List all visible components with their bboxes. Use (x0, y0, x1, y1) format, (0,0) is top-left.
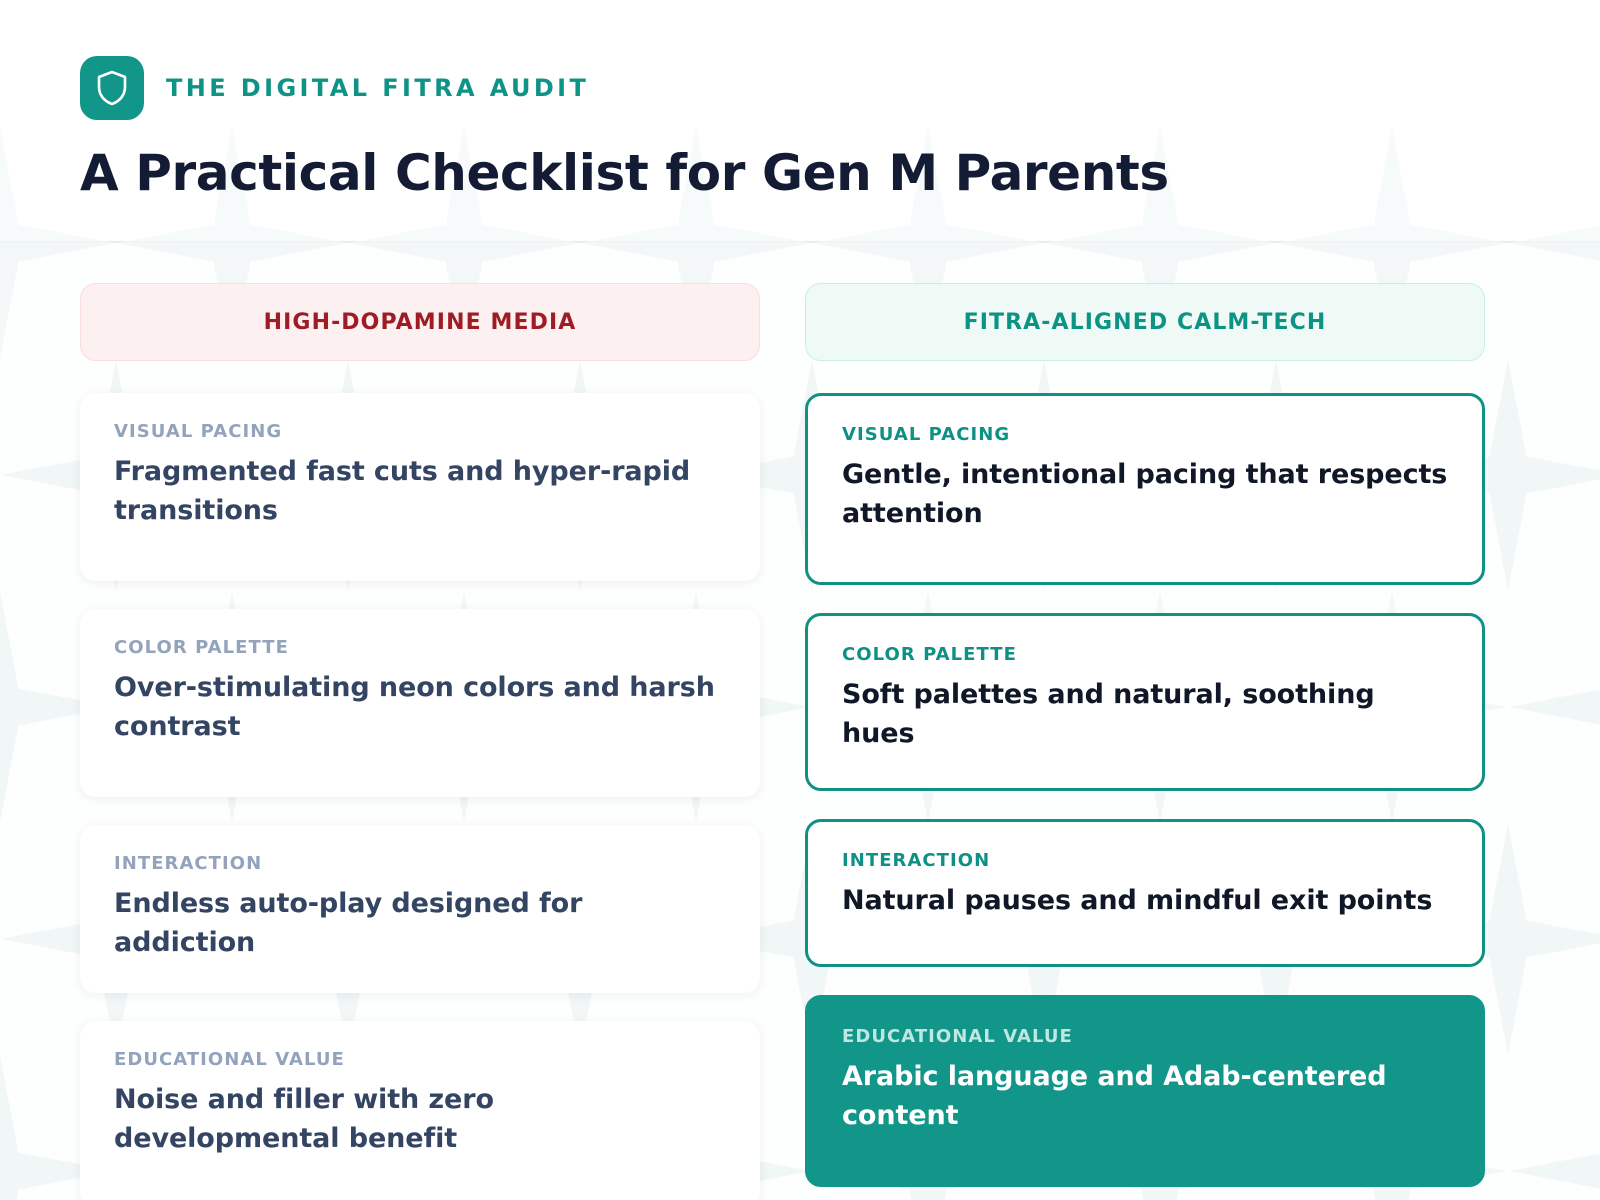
logo-badge (80, 56, 144, 120)
card-fitra-educational-value[interactable]: EDUCATIONAL VALUE Arabic language and Ad… (805, 995, 1485, 1187)
column-header-fitra-aligned: FITRA-ALIGNED CALM-TECH (805, 283, 1485, 361)
card-text: Endless auto-play designed for addiction (114, 884, 726, 963)
page-title: A Practical Checklist for Gen M Parents (80, 146, 1600, 200)
card-label: COLOR PALETTE (842, 644, 1448, 665)
card-text: Arabic language and Adab-centered conten… (842, 1057, 1448, 1136)
column-fitra-aligned: FITRA-ALIGNED CALM-TECH VISUAL PACING Ge… (805, 283, 1485, 1200)
column-high-dopamine: HIGH-DOPAMINE MEDIA VISUAL PACING Fragme… (80, 283, 760, 1200)
card-text: Over-stimulating neon colors and harsh c… (114, 668, 726, 747)
card-text: Soft palettes and natural, soothing hues (842, 675, 1448, 754)
card-text: Natural pauses and mindful exit points (842, 881, 1448, 920)
card-label: VISUAL PACING (114, 421, 726, 442)
comparison-board: HIGH-DOPAMINE MEDIA VISUAL PACING Fragme… (0, 243, 1600, 1200)
card-label: EDUCATIONAL VALUE (842, 1026, 1448, 1047)
card-text: Gentle, intentional pacing that respects… (842, 455, 1448, 534)
card-label: EDUCATIONAL VALUE (114, 1049, 726, 1070)
card-high-dopamine-visual-pacing[interactable]: VISUAL PACING Fragmented fast cuts and h… (80, 393, 760, 581)
brand-eyebrow: THE DIGITAL FITRA AUDIT (166, 74, 589, 102)
card-fitra-interaction[interactable]: INTERACTION Natural pauses and mindful e… (805, 819, 1485, 967)
shield-icon (95, 69, 129, 107)
card-text: Noise and filler with zero developmental… (114, 1080, 726, 1159)
card-label: COLOR PALETTE (114, 637, 726, 658)
card-high-dopamine-interaction[interactable]: INTERACTION Endless auto-play designed f… (80, 825, 760, 993)
page-header: THE DIGITAL FITRA AUDIT A Practical Chec… (0, 0, 1600, 243)
card-high-dopamine-color-palette[interactable]: COLOR PALETTE Over-stimulating neon colo… (80, 609, 760, 797)
card-label: VISUAL PACING (842, 424, 1448, 445)
card-label: INTERACTION (842, 850, 1448, 871)
column-header-high-dopamine: HIGH-DOPAMINE MEDIA (80, 283, 760, 361)
brand-row: THE DIGITAL FITRA AUDIT (80, 56, 1600, 120)
card-high-dopamine-educational-value[interactable]: EDUCATIONAL VALUE Noise and filler with … (80, 1021, 760, 1200)
card-fitra-color-palette[interactable]: COLOR PALETTE Soft palettes and natural,… (805, 613, 1485, 791)
card-fitra-visual-pacing[interactable]: VISUAL PACING Gentle, intentional pacing… (805, 393, 1485, 585)
card-label: INTERACTION (114, 853, 726, 874)
card-text: Fragmented fast cuts and hyper-rapid tra… (114, 452, 726, 531)
